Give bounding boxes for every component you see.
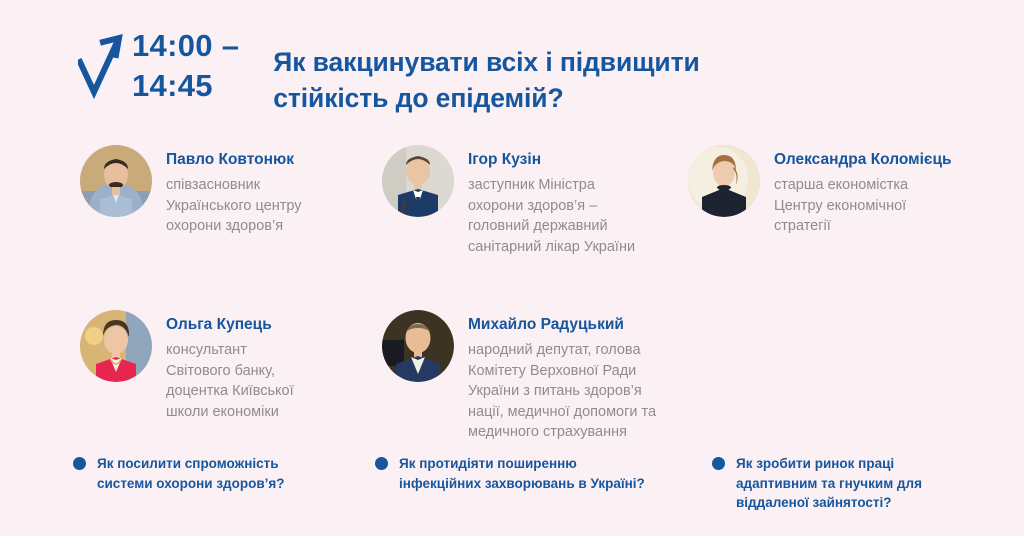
session-header: 14:00 – 14:45 Як вакцинувати всіх і підв… [78,26,778,134]
speaker-info: Ольга Купець консультант Світового банку… [166,310,294,422]
speaker-name: Павло Ковтонюк [166,150,302,170]
speaker-role: заступник Міністра охорони здоров’я – го… [468,175,635,257]
session-time: 14:00 – 14:45 [132,26,239,106]
growth-arrow-icon [78,28,124,102]
speaker-row-2: Ольга Купець консультант Світового банку… [0,310,1024,460]
question-item-1[interactable]: Як посилити спроможність системи охорони… [73,454,285,493]
avatar-ihor-kuzin [382,145,454,217]
speaker-card-4[interactable]: Ольга Купець консультант Світового банку… [80,310,294,422]
speaker-info: Павло Ковтонюк співзасновник Українськог… [166,145,302,237]
speaker-info: Михайло Радуцький народний депутат, голо… [468,310,656,443]
question-item-2[interactable]: Як протидіяти поширенню інфекційних захв… [375,454,645,493]
avatar-mykhailo-radutskyi [382,310,454,382]
speaker-role: співзасновник Українського центру охорон… [166,175,302,237]
speaker-info: Олександра Коломієць старша економістка … [774,145,952,237]
question-text: Як посилити спроможність системи охорони… [97,454,285,493]
bullet-dot-icon [375,457,388,470]
speaker-role: народний депутат, голова Комітету Верхов… [468,340,656,443]
question-text: Як протидіяти поширенню інфекційних захв… [399,454,645,493]
speaker-name: Михайло Радуцький [468,315,656,335]
speaker-info: Ігор Кузін заступник Міністра охорони зд… [468,145,635,257]
speaker-card-1[interactable]: Павло Ковтонюк співзасновник Українськог… [80,145,302,237]
bullet-dot-icon [712,457,725,470]
speaker-name: Ігор Кузін [468,150,635,170]
avatar-olha-kupets [80,310,152,382]
bullet-dot-icon [73,457,86,470]
speaker-card-3[interactable]: Олександра Коломієць старша економістка … [688,145,952,237]
speakers-grid: Павло Ковтонюк співзасновник Українськог… [0,145,1024,460]
page-title: Як вакцинувати всіх і підвищити стійкіст… [273,44,778,116]
speaker-card-2[interactable]: Ігор Кузін заступник Міністра охорони зд… [382,145,635,257]
speaker-role: старша економістка Центру економічної ст… [774,175,952,237]
question-item-3[interactable]: Як зробити ринок праці адаптивним та гну… [712,454,922,513]
speaker-name: Олександра Коломієць [774,150,952,170]
speaker-card-5[interactable]: Михайло Радуцький народний депутат, голо… [382,310,656,443]
speaker-name: Ольга Купець [166,315,294,335]
avatar-pavlo-kovtoniuk [80,145,152,217]
speaker-role: консультант Світового банку, доцентка Ки… [166,340,294,422]
speaker-row-1: Павло Ковтонюк співзасновник Українськог… [0,145,1024,295]
question-text: Як зробити ринок праці адаптивним та гну… [736,454,922,513]
avatar-oleksandra-kolomiiets [688,145,760,217]
